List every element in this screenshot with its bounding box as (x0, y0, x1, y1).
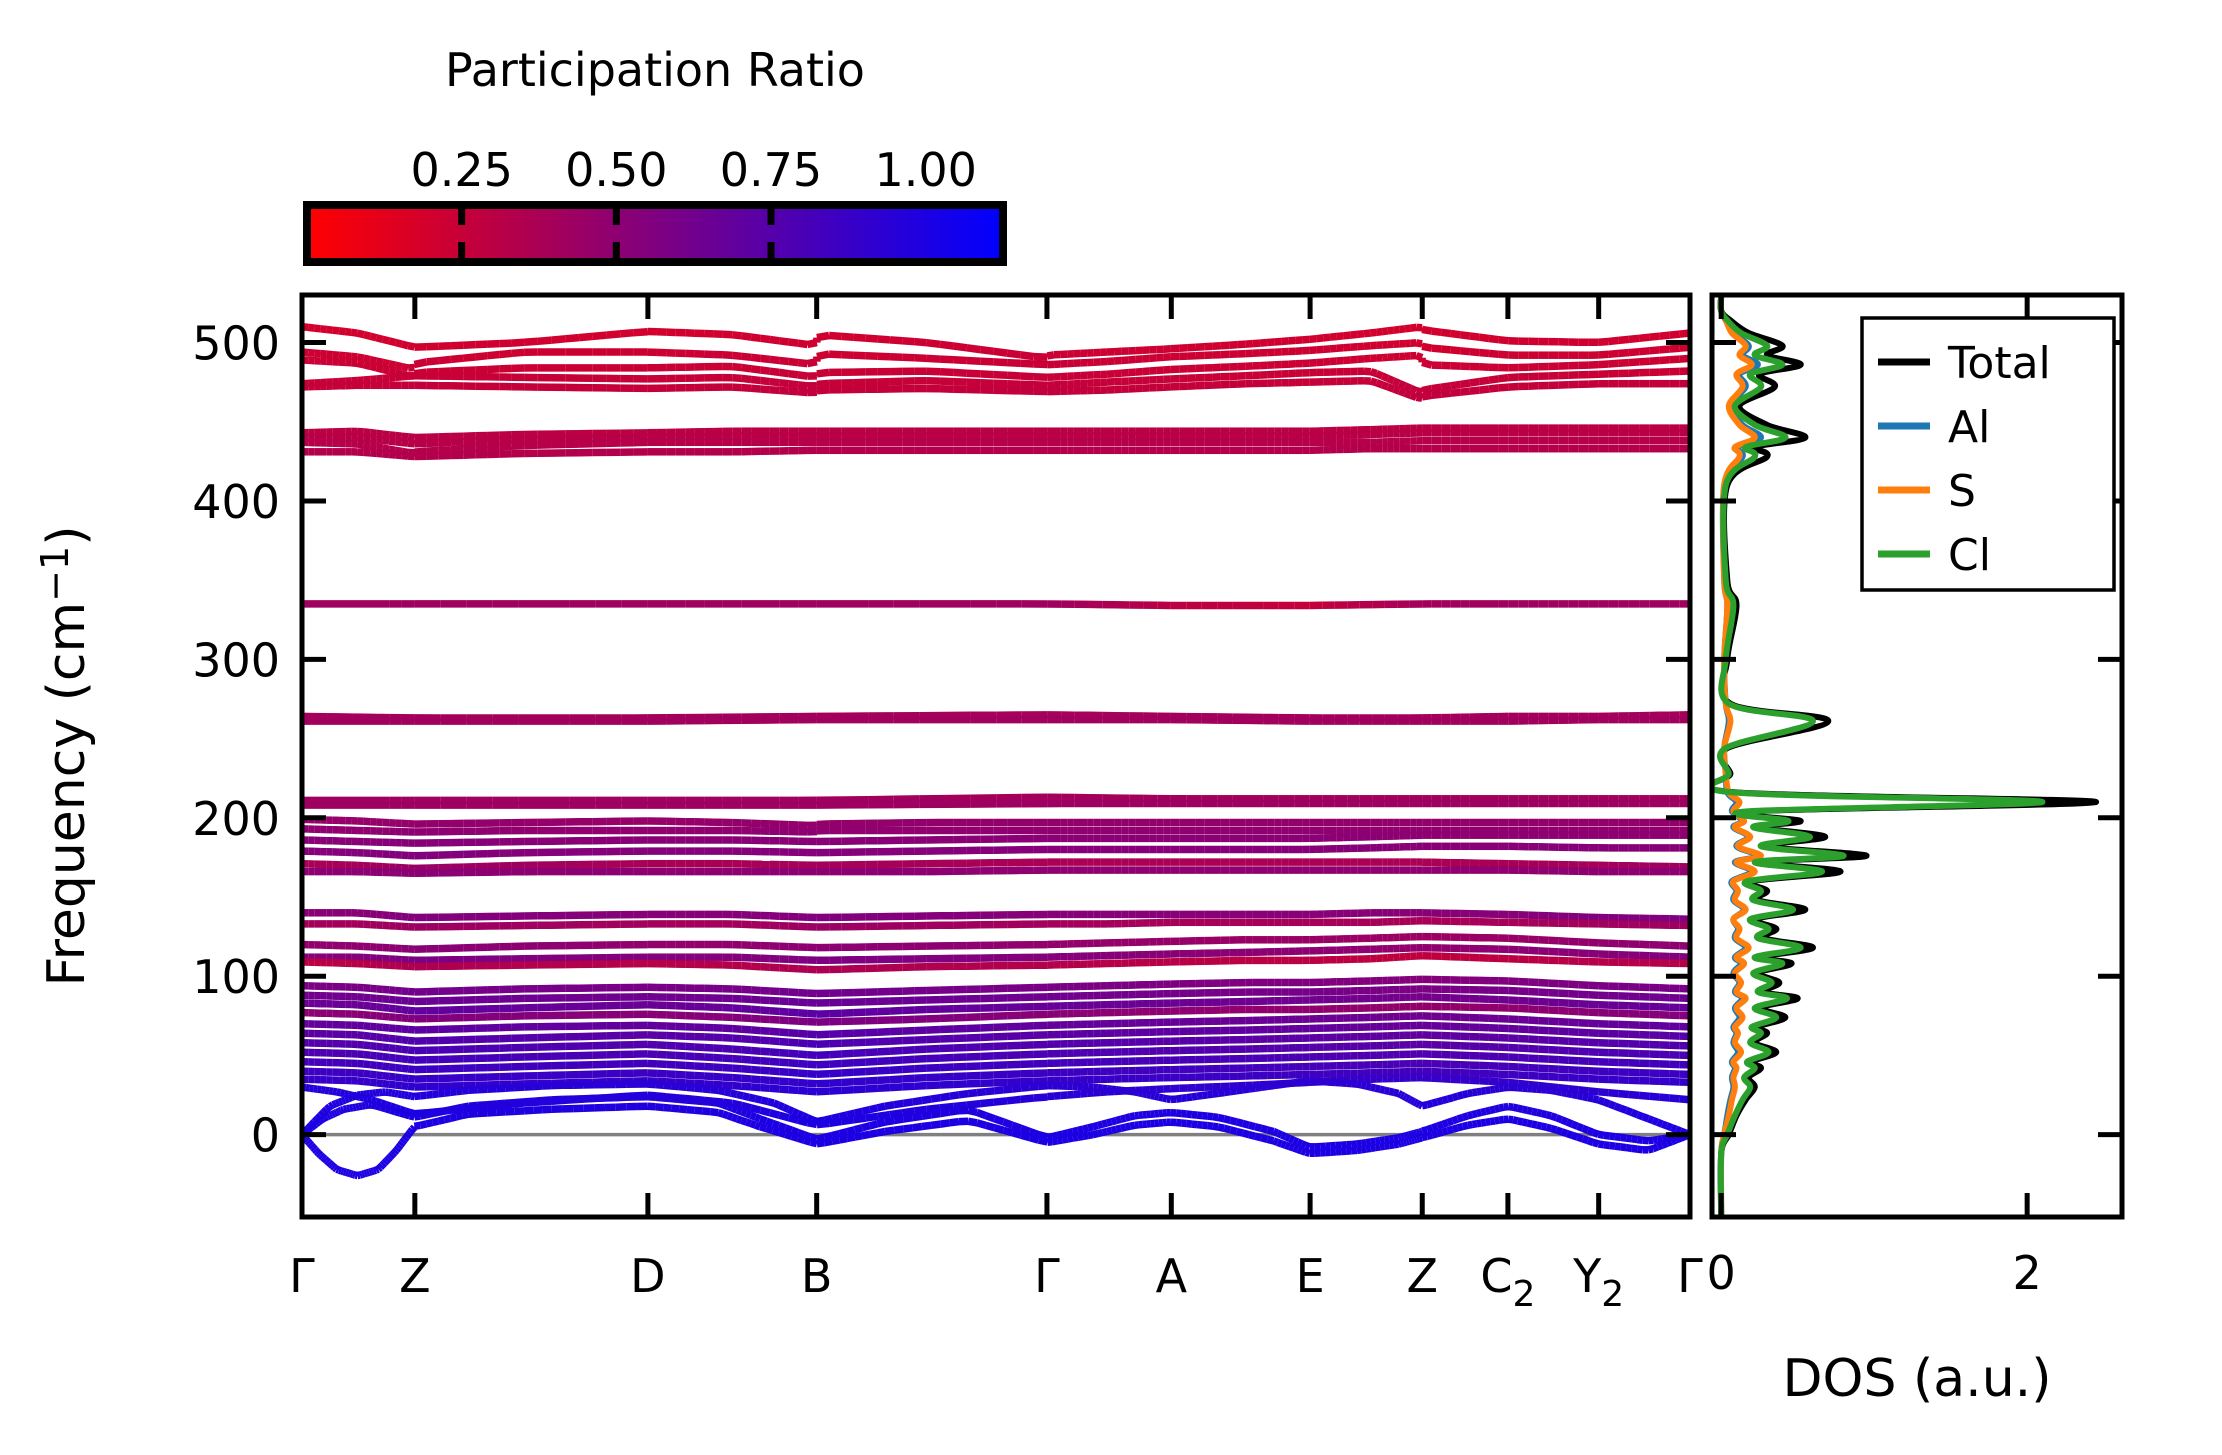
band-segment (994, 351, 1007, 353)
band-segment (1296, 340, 1303, 341)
band-segment (1568, 1022, 1578, 1023)
band-segment (770, 1031, 779, 1032)
band-segment (1480, 337, 1490, 338)
band-segment (358, 1073, 364, 1074)
band-segment (878, 1070, 890, 1071)
band-segment (1649, 350, 1659, 351)
band-segment (841, 1063, 853, 1064)
band-segment (902, 1010, 914, 1011)
band-segment (761, 1031, 770, 1032)
band-segment (1399, 391, 1405, 393)
band-segment (1357, 359, 1364, 360)
band-segment (666, 1045, 675, 1046)
band-segment (408, 346, 414, 347)
band-segment (383, 362, 389, 363)
band-segment (1021, 1015, 1034, 1016)
band-segment (1337, 336, 1344, 337)
band-segment (383, 1038, 389, 1039)
band-segment (980, 361, 993, 362)
band-segment (1578, 953, 1588, 954)
band-segment (798, 343, 807, 344)
band-segment (798, 385, 807, 386)
band-segment (742, 1050, 751, 1051)
band-segment (1489, 339, 1499, 340)
band-segment (751, 966, 760, 967)
band-segment (1518, 1048, 1528, 1049)
band-segment (1518, 1058, 1528, 1059)
band-segment (798, 1002, 807, 1003)
band-segment (1377, 374, 1383, 377)
band-segment (1007, 1055, 1020, 1056)
band-segment (1619, 363, 1629, 364)
band-segment (389, 455, 395, 456)
band-segment (1568, 1060, 1578, 1061)
band-segment (1382, 385, 1388, 387)
band-segment (1548, 1021, 1558, 1022)
band-segment (967, 1057, 980, 1058)
band-segment (779, 968, 788, 969)
band-segment (1441, 332, 1451, 333)
band-segment (427, 450, 439, 451)
band-segment (414, 451, 426, 452)
band-segment (364, 358, 370, 359)
band-segment (475, 344, 487, 345)
band-segment (808, 1044, 817, 1045)
band-segment (732, 1059, 741, 1060)
band-segment (439, 346, 451, 347)
band-segment (579, 336, 593, 337)
band-segment (927, 1030, 940, 1031)
band-segment (451, 442, 463, 443)
band-segment (389, 377, 395, 378)
band-segment (439, 371, 451, 372)
band-segment (723, 1008, 732, 1009)
band-segment (1337, 361, 1344, 362)
band-segment (370, 1036, 376, 1037)
band-segment (980, 1027, 993, 1028)
band-segment (370, 1065, 376, 1066)
band-segment (779, 390, 788, 391)
band-segment (451, 371, 463, 372)
band-segment (538, 340, 552, 341)
band-segment (1411, 388, 1417, 391)
band-segment (327, 354, 333, 355)
band-segment (1371, 372, 1377, 374)
band-segment (890, 340, 902, 341)
band-segment (1441, 386, 1451, 387)
band-segment (1135, 372, 1142, 373)
band-segment (1518, 1008, 1528, 1009)
band-segment (463, 370, 475, 371)
band-segment (358, 1035, 364, 1036)
band-segment (389, 916, 395, 917)
band-segment (1538, 1002, 1548, 1003)
band-segment (1171, 348, 1179, 349)
band-segment (1499, 340, 1509, 341)
band-segment (377, 440, 383, 441)
band-segment (383, 989, 389, 990)
band-segment (779, 1053, 788, 1054)
band-segment (1350, 334, 1357, 335)
band-segment (980, 350, 993, 352)
band-segment (742, 1018, 751, 1019)
band-segment (1538, 951, 1548, 952)
band-segment (500, 368, 512, 369)
band-segment (1578, 1004, 1588, 1005)
band-segment (327, 330, 333, 331)
band-segment (345, 356, 351, 357)
band-segment (751, 1030, 760, 1031)
band-segment (1021, 376, 1034, 377)
band-segment (1568, 1003, 1578, 1004)
band-segment (389, 1048, 395, 1049)
band-segment (1508, 981, 1518, 982)
band-segment (854, 1033, 866, 1034)
band-segment (402, 1018, 408, 1019)
band-segment (1538, 1010, 1548, 1011)
band-segment (389, 435, 395, 436)
band-segment (1399, 383, 1405, 385)
band-segment (351, 356, 357, 357)
band-segment (408, 1041, 414, 1042)
band-segment (789, 968, 798, 969)
band-segment (389, 999, 395, 1000)
band-segment (878, 1051, 890, 1052)
band-segment (789, 342, 798, 343)
band-segment (695, 1057, 705, 1058)
band-segment (1388, 330, 1394, 331)
band-segment (364, 997, 370, 998)
band-segment (953, 1048, 967, 1049)
band-segment (770, 1061, 779, 1062)
band-segment (770, 359, 779, 360)
band-segment (364, 988, 370, 989)
band-segment (676, 1046, 685, 1047)
band-segment (1558, 1060, 1568, 1061)
band-segment (789, 1072, 798, 1073)
band-segment (779, 1062, 788, 1063)
band-segment (396, 1000, 402, 1001)
band-segment (798, 1073, 807, 1074)
band-segment (1528, 1001, 1538, 1002)
band-segment (1588, 1052, 1598, 1053)
band-segment (1422, 346, 1432, 348)
band-segment (890, 1031, 902, 1032)
band-segment (402, 1010, 408, 1011)
band-segment (779, 1072, 788, 1073)
band-segment (370, 360, 376, 361)
band-segment (1639, 361, 1649, 362)
band-segment (890, 1011, 902, 1012)
band-segment (1528, 982, 1538, 983)
band-segment (854, 1072, 866, 1073)
band-segment (383, 454, 389, 455)
band-segment (761, 358, 770, 359)
band-segment (402, 436, 408, 437)
band-segment (408, 368, 414, 369)
band-segment (742, 336, 751, 337)
band-segment (1480, 389, 1490, 390)
band-segment (1548, 1050, 1558, 1051)
band-segment (761, 991, 770, 992)
band-segment (1460, 391, 1470, 392)
band-segment (364, 913, 370, 914)
band-segment (364, 365, 370, 367)
band-segment (1609, 363, 1619, 364)
band-segment (1441, 393, 1451, 394)
band-segment (439, 450, 451, 451)
band-segment (751, 1060, 760, 1061)
band-segment (657, 1064, 666, 1065)
band-segment (1451, 350, 1461, 351)
band-segment (1388, 378, 1394, 381)
band-segment (994, 1055, 1007, 1056)
band-segment (808, 1034, 817, 1035)
band-segment (1405, 328, 1411, 329)
band-segment (1670, 348, 1680, 349)
band-segment (1558, 1011, 1568, 1012)
band-segment (789, 1033, 798, 1034)
band-segment (358, 380, 364, 381)
band-segment (751, 1051, 760, 1052)
band-segment (779, 361, 788, 362)
band-segment (451, 345, 463, 346)
band-segment (732, 355, 741, 356)
band-segment (1568, 941, 1578, 942)
band-segment (488, 344, 500, 345)
band-segment (967, 373, 980, 374)
band-segment (940, 381, 953, 382)
band-segment (808, 1074, 817, 1075)
band-segment (1548, 1010, 1558, 1011)
band-segment (377, 1037, 383, 1038)
band-segment (396, 1017, 402, 1018)
band-segment (866, 1012, 878, 1013)
band-segment (396, 455, 402, 456)
band-segment (854, 1042, 866, 1043)
band-segment (414, 362, 426, 365)
phonon-band (302, 604, 1690, 606)
band-segment (770, 1001, 779, 1002)
band-segment (1578, 1023, 1588, 1024)
band-segment (742, 1059, 751, 1060)
band-segment (841, 1072, 853, 1073)
band-segment (1150, 371, 1157, 372)
colorbar-tick-label: 0.25 (410, 143, 512, 197)
band-segment (761, 1000, 770, 1001)
band-segment (770, 371, 779, 372)
band-segment (808, 1055, 817, 1056)
band-segment (1558, 941, 1568, 942)
band-segment (914, 1030, 926, 1031)
band-segment (841, 1053, 853, 1054)
band-segment (364, 1055, 370, 1056)
band-segment (451, 449, 463, 450)
band-segment (1480, 353, 1490, 354)
band-segment (427, 372, 439, 373)
band-segment (1344, 360, 1351, 361)
band-segment (475, 370, 487, 371)
band-segment (377, 1007, 383, 1008)
band-segment (854, 355, 866, 356)
band-segment (1548, 951, 1558, 952)
band-segment (751, 388, 760, 389)
band-segment (1253, 343, 1260, 344)
band-segment (967, 361, 980, 362)
band-segment (1221, 345, 1229, 346)
band-segment (383, 1027, 389, 1028)
band-segment (1499, 387, 1509, 388)
band-segment (402, 1068, 408, 1069)
band-segment (1518, 1039, 1528, 1040)
band-segment (751, 1039, 760, 1040)
band-segment (1157, 357, 1164, 358)
band-segment (1639, 337, 1649, 338)
band-segment (358, 1014, 364, 1015)
band-segment (1528, 1009, 1538, 1010)
band-segment (878, 339, 890, 340)
band-segment (732, 1049, 741, 1050)
band-segment (878, 356, 890, 357)
band-segment (967, 1017, 980, 1018)
band-segment (940, 1048, 953, 1049)
band-segment (1588, 995, 1598, 996)
band-segment (358, 357, 364, 358)
colorbar-title: Participation Ratio (445, 43, 865, 97)
band-segment (657, 1054, 666, 1055)
band-segment (1007, 1036, 1020, 1037)
band-segment (402, 991, 408, 992)
band-segment (552, 339, 566, 340)
band-segment (866, 356, 878, 357)
band-segment (798, 1021, 807, 1022)
band-segment (714, 1067, 723, 1068)
band-segment (1310, 363, 1317, 364)
band-segment (878, 1061, 890, 1062)
band-segment (732, 335, 741, 336)
band-segment (866, 1032, 878, 1033)
band-segment (940, 1067, 953, 1068)
band-segment (751, 369, 760, 370)
band-segment (994, 1065, 1007, 1066)
band-segment (789, 1012, 798, 1013)
band-segment (770, 1041, 779, 1042)
band-segment (967, 1066, 980, 1067)
band-segment (695, 1047, 705, 1048)
band-segment (789, 1042, 798, 1043)
band-segment (980, 383, 993, 384)
band-segment (1460, 335, 1470, 336)
band-segment (1558, 952, 1568, 953)
band-segment (732, 1017, 741, 1018)
band-segment (890, 1060, 902, 1061)
band-segment (902, 1031, 914, 1032)
band-segment (389, 1057, 395, 1058)
band-segment (488, 355, 500, 356)
band-segment (321, 329, 327, 330)
band-segment (953, 346, 967, 348)
band-segment (732, 387, 741, 388)
band-segment (1558, 1041, 1568, 1042)
band-segment (1548, 983, 1558, 984)
band-segment (829, 1064, 841, 1065)
band-segment (500, 343, 512, 344)
band-segment (1508, 1029, 1518, 1030)
band-segment (1508, 991, 1518, 992)
band-segment (408, 443, 414, 444)
band-segment (1388, 387, 1394, 389)
band-segment (817, 1074, 829, 1075)
band-segment (1548, 1031, 1558, 1032)
band-segment (798, 1043, 807, 1044)
band-segment (829, 1073, 841, 1074)
band-segment (953, 1017, 967, 1018)
band-segment (1394, 330, 1400, 331)
band-segment (389, 441, 395, 442)
band-segment (829, 1043, 841, 1044)
band-segment (1364, 358, 1371, 359)
band-segment (370, 1074, 376, 1075)
band-segment (1377, 383, 1383, 385)
band-segment (1107, 361, 1114, 362)
band-segment (1489, 379, 1499, 380)
band-segment (1451, 384, 1461, 385)
band-segment (1371, 332, 1377, 333)
band-segment (370, 1026, 376, 1027)
band-segment (902, 1069, 914, 1070)
band-segment (1518, 1001, 1528, 1002)
band-segment (383, 339, 389, 341)
band-segment (1528, 950, 1538, 951)
band-segment (364, 432, 370, 433)
band-segment (1588, 365, 1598, 366)
band-segment (1416, 343, 1422, 344)
band-segment (761, 1070, 770, 1071)
band-segment (402, 917, 408, 918)
band-segment (902, 1040, 914, 1041)
band-segment (732, 1068, 741, 1069)
band-segment (321, 354, 327, 355)
band-segment (817, 372, 829, 373)
band-segment (396, 1058, 402, 1059)
band-segment (967, 382, 980, 383)
band-segment (1179, 348, 1187, 349)
band-segment (358, 1005, 364, 1006)
band-segment (1267, 342, 1274, 343)
band-segment (377, 998, 383, 999)
band-segment (383, 378, 389, 379)
band-segment (1588, 942, 1598, 943)
band-segment (789, 374, 798, 375)
band-segment (1518, 1029, 1528, 1030)
band-segment (500, 440, 512, 441)
band-segment (370, 998, 376, 999)
band-segment (402, 1059, 408, 1060)
band-segment (396, 1049, 402, 1050)
band-segment (817, 383, 829, 384)
band-segment (751, 1009, 760, 1010)
band-segment (890, 357, 902, 358)
band-segment (396, 377, 402, 378)
band-segment (1382, 376, 1388, 378)
band-segment (1568, 1011, 1578, 1012)
band-segment (770, 340, 779, 341)
band-segment (927, 1018, 940, 1019)
band-segment (1528, 992, 1538, 993)
band-segment (402, 1040, 408, 1041)
band-segment (1588, 1023, 1598, 1024)
band-segment (396, 991, 402, 992)
